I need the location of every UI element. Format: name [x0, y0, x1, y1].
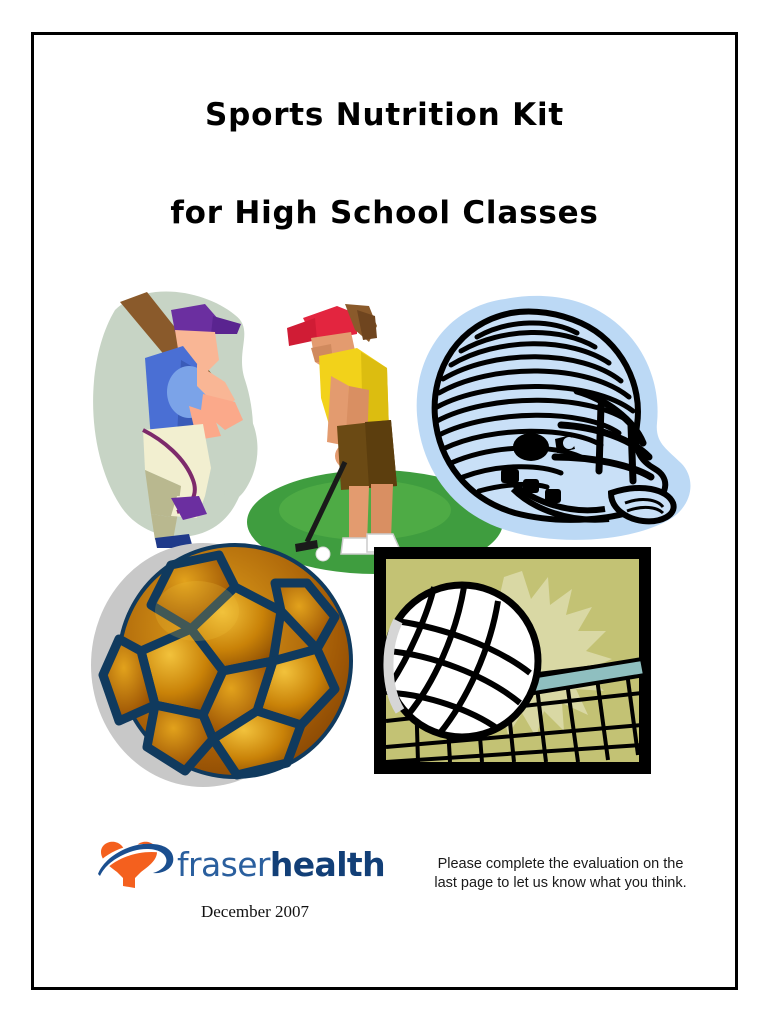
fraser-health-logo-block: fraserhealth December 2007	[95, 838, 385, 922]
publication-date: December 2007	[175, 902, 335, 922]
volleyball-net-clipart	[370, 543, 655, 778]
soccer-ball-clipart	[85, 525, 375, 795]
page-title-line-2: for High School Classes	[31, 198, 738, 229]
wordmark-health: health	[270, 845, 385, 884]
wordmark-fraser: fraser	[177, 845, 270, 884]
document-page: Sports Nutrition Kit for High School Cla…	[0, 0, 770, 1024]
cover-title-block: Sports Nutrition Kit for High School Cla…	[31, 100, 738, 229]
football-helmet-clipart	[405, 293, 695, 553]
evaluation-note: Please complete the evaluation on the la…	[428, 855, 693, 893]
page-title-line-1: Sports Nutrition Kit	[31, 100, 738, 131]
fraser-health-wordmark: fraserhealth	[177, 843, 385, 887]
fraser-health-heart-swoosh-icon	[95, 840, 177, 894]
logo-row: fraserhealth	[95, 838, 385, 896]
sports-collage	[85, 285, 695, 795]
